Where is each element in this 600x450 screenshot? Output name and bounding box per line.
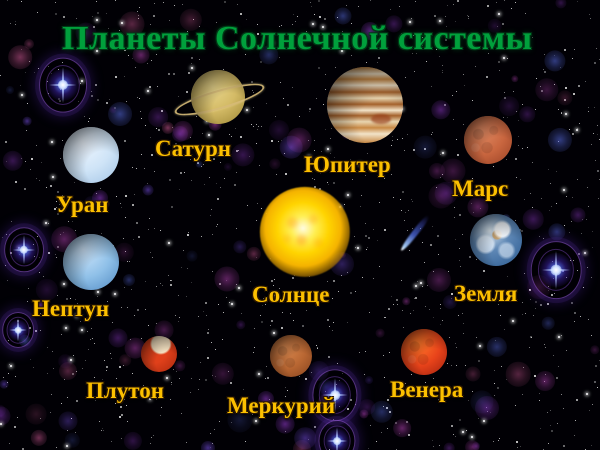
star-core — [551, 265, 562, 276]
star-dot — [11, 221, 12, 222]
star-dot — [539, 236, 540, 237]
star-dot — [569, 129, 570, 130]
star-dot — [129, 261, 130, 262]
star-dot — [518, 145, 519, 146]
star-dot — [102, 379, 103, 380]
star-dot — [153, 435, 154, 436]
star-dot — [297, 16, 298, 17]
star-dot — [592, 247, 593, 248]
star-dot — [457, 0, 459, 2]
star-dot — [290, 313, 291, 314]
star-ring-inner — [319, 376, 351, 414]
star-dot — [241, 313, 242, 314]
star-bright — [462, 431, 464, 433]
star-dot — [269, 399, 270, 400]
star-dot — [220, 162, 221, 163]
star-dot — [178, 321, 179, 322]
nebula-glow — [26, 404, 47, 425]
star-dot — [467, 15, 468, 16]
star-dot — [123, 365, 124, 366]
star-dot — [63, 16, 65, 18]
star-dot — [293, 320, 294, 321]
star-dot — [522, 104, 523, 105]
star-dot — [206, 315, 207, 316]
blue-star-left-low-icon — [7, 319, 29, 341]
star-dot — [217, 224, 218, 225]
star-dot — [317, 347, 318, 348]
star-dot — [15, 24, 16, 25]
star-dot — [533, 315, 534, 316]
star-dot — [62, 313, 63, 314]
nebula-glow — [472, 442, 480, 450]
star-dot — [577, 1, 578, 2]
star-dot — [391, 296, 392, 297]
star-bright — [565, 113, 567, 115]
star-dot — [90, 339, 91, 340]
star-dot — [497, 387, 499, 389]
star-dot — [283, 98, 284, 99]
star-dot — [54, 208, 56, 210]
star-dot — [72, 373, 74, 375]
star-dot — [523, 367, 524, 368]
star-dot — [121, 207, 122, 208]
star-dot — [111, 358, 112, 359]
star-dot — [84, 116, 85, 117]
planet-pluto[interactable] — [141, 336, 177, 372]
planet-jupiter[interactable] — [327, 67, 403, 143]
star-dot — [186, 296, 187, 297]
star-dot — [109, 99, 110, 100]
star-dot — [478, 360, 480, 362]
star-dot — [240, 136, 242, 138]
star-dot — [138, 15, 139, 16]
star-dot — [544, 381, 545, 382]
star-dot — [149, 218, 150, 219]
star-dot — [102, 428, 103, 429]
star-dot — [597, 170, 599, 172]
star-dot — [486, 407, 487, 408]
star-dot — [393, 304, 394, 305]
star-dot — [134, 315, 135, 316]
nebula-glow — [302, 244, 308, 250]
star-dot — [472, 100, 473, 101]
nebula-glow — [309, 361, 329, 381]
nebula-glow — [441, 159, 466, 184]
star-dot — [455, 343, 456, 344]
star-dot — [424, 148, 426, 150]
star-dot — [569, 232, 570, 233]
star-dot — [506, 159, 507, 160]
star-ring-outer — [2, 312, 34, 348]
nebula-glow — [487, 337, 507, 357]
nebula-glow — [340, 252, 346, 258]
star-dot — [366, 62, 367, 63]
star-dot — [287, 104, 289, 106]
star-dot — [29, 61, 30, 62]
star-dot — [499, 70, 500, 71]
star-dot — [61, 334, 62, 335]
nebula-glow — [276, 415, 295, 434]
planet-earth[interactable] — [470, 214, 522, 266]
planet-neptune[interactable] — [63, 234, 119, 290]
star-bright — [21, 94, 23, 96]
star-dot — [306, 156, 307, 157]
star-dot — [591, 335, 592, 336]
nebula-glow — [318, 394, 334, 410]
star-dot — [369, 312, 370, 313]
planet-uranus[interactable] — [63, 127, 119, 183]
star-dot — [208, 329, 209, 330]
star-dot — [333, 182, 335, 184]
star-dot — [37, 12, 38, 13]
star-bright — [359, 163, 361, 165]
star-dot — [72, 221, 73, 222]
star-dot — [490, 412, 491, 413]
star-dot — [27, 103, 28, 104]
star-dot — [136, 168, 137, 169]
star-dot — [332, 298, 333, 299]
star-dot — [420, 228, 421, 229]
star-dot — [25, 161, 26, 162]
star-dot — [257, 203, 258, 204]
page-title: Планеты Солнечной системы — [62, 20, 533, 58]
star-dot — [397, 304, 398, 305]
star-dot — [498, 440, 499, 441]
star-dot — [516, 111, 517, 112]
nebula-glow — [19, 335, 31, 347]
star-dot — [377, 240, 378, 241]
nebula-glow — [148, 107, 168, 127]
star-dot — [229, 134, 230, 135]
star-spike-horizontal — [9, 329, 26, 331]
label-earth: Земля — [454, 281, 517, 307]
star-dot — [598, 198, 599, 199]
star-dot — [355, 291, 356, 292]
star-dot — [389, 352, 390, 353]
star-dot — [51, 73, 52, 74]
star-ring-outer — [39, 58, 87, 113]
star-dot — [336, 439, 338, 441]
star-core — [330, 390, 340, 400]
star-dot — [463, 333, 464, 334]
star-dot — [51, 394, 52, 395]
star-dot — [5, 141, 7, 143]
star-dot — [468, 18, 469, 19]
star-dot — [223, 312, 224, 313]
star-dot — [132, 58, 133, 59]
star-dot — [132, 204, 134, 206]
star-dot — [384, 317, 385, 318]
star-dot — [157, 144, 158, 145]
nebula-glow — [269, 120, 289, 140]
star-dot — [101, 430, 102, 431]
star-dot — [115, 0, 116, 1]
nebula-glow — [227, 407, 252, 432]
star-dot — [587, 267, 588, 268]
star-dot — [150, 443, 151, 444]
star-dot — [451, 425, 453, 427]
star-dot — [15, 181, 17, 183]
star-dot — [591, 277, 592, 278]
star-dot — [305, 413, 306, 414]
star-dot — [55, 254, 56, 255]
star-halo — [11, 237, 38, 264]
star-ring-outer — [318, 420, 355, 450]
star-dot — [575, 420, 576, 421]
star-dot — [440, 177, 441, 178]
star-dot — [253, 352, 254, 353]
star-dot — [534, 375, 536, 377]
star-dot — [320, 173, 321, 174]
star-dot — [532, 207, 533, 208]
star-dot — [350, 292, 352, 294]
star-spike-vertical — [23, 235, 25, 264]
star-dot — [76, 400, 78, 402]
nebula-glow — [36, 279, 58, 301]
star-dot — [201, 236, 202, 237]
nebula-glow — [212, 363, 234, 385]
star-dot — [318, 0, 320, 2]
star-dot — [154, 171, 155, 172]
nebula-glow — [544, 50, 565, 71]
star-dot — [325, 89, 326, 90]
label-venus: Венера — [390, 377, 463, 403]
star-dot — [516, 177, 517, 178]
star-dot — [305, 378, 307, 380]
star-dot — [459, 260, 460, 261]
star-dot — [99, 421, 100, 422]
star-dot — [211, 342, 212, 343]
star-dot — [249, 156, 250, 157]
nebula-glow — [59, 412, 78, 431]
star-dot — [515, 2, 516, 3]
star-dot — [312, 178, 313, 179]
star-dot — [6, 386, 7, 387]
star-dot — [595, 160, 596, 161]
star-dot — [359, 352, 360, 353]
star-dot — [175, 143, 177, 145]
star-bright — [498, 13, 500, 15]
star-bright — [420, 282, 422, 284]
star-dot — [525, 13, 526, 14]
star-dot — [24, 188, 26, 190]
star-dot — [261, 321, 263, 323]
star-dot — [134, 395, 135, 396]
star-dot — [597, 387, 598, 388]
star-dot — [327, 319, 329, 321]
star-dot — [161, 407, 162, 408]
star-dot — [464, 85, 465, 86]
star-dot — [451, 293, 453, 295]
solar-system-slide: Планеты Солнечной системы СатурнЮпитерМа… — [0, 0, 600, 450]
star-dot — [539, 400, 540, 401]
comet-icon — [399, 214, 431, 252]
star-dot — [285, 173, 287, 175]
star-dot — [442, 65, 443, 66]
star-dot — [135, 67, 136, 68]
star-dot — [38, 68, 39, 69]
star-dot — [554, 55, 555, 56]
star-dot — [39, 272, 40, 273]
nebula-glow — [231, 143, 254, 166]
star-dot — [61, 403, 62, 404]
star-dot — [154, 3, 155, 4]
star-dot — [139, 7, 140, 8]
star-dot — [96, 193, 97, 194]
star-dot — [316, 98, 317, 99]
star-dot — [73, 355, 74, 356]
star-dot — [148, 229, 149, 230]
star-dot — [588, 107, 589, 108]
star-dot — [170, 280, 171, 281]
star-dot — [57, 213, 59, 215]
star-dot — [123, 238, 124, 239]
star-dot — [571, 302, 573, 304]
terminator-shadow — [470, 214, 522, 266]
star-dot — [328, 356, 330, 358]
star-dot — [581, 233, 582, 234]
star-dot — [457, 154, 459, 156]
star-bright — [347, 194, 349, 196]
star-dot — [447, 5, 448, 6]
star-dot — [34, 72, 35, 73]
star-dot — [48, 66, 49, 67]
star-bright — [258, 373, 260, 375]
star-dot — [314, 186, 316, 188]
star-core — [20, 246, 28, 254]
star-dot — [487, 5, 489, 7]
star-dot — [507, 117, 508, 118]
label-mars: Марс — [452, 176, 508, 202]
star-dot — [577, 179, 578, 180]
star-dot — [156, 323, 157, 324]
star-dot — [407, 134, 408, 135]
nebula-glow — [123, 274, 135, 286]
nebula-glow — [301, 206, 320, 225]
star-dot — [270, 325, 271, 326]
star-bright — [255, 420, 257, 422]
star-dot — [111, 441, 112, 442]
star-dot — [432, 132, 433, 133]
star-dot — [145, 281, 146, 282]
star-dot — [496, 2, 497, 3]
planet-saturn[interactable] — [191, 70, 245, 124]
star-dot — [556, 203, 557, 204]
star-dot — [285, 431, 286, 432]
star-dot — [557, 423, 558, 424]
star-dot — [271, 320, 273, 322]
star-dot — [334, 157, 335, 158]
star-dot — [468, 400, 469, 401]
star-dot — [92, 338, 93, 339]
star-dot — [472, 178, 473, 179]
star-dot — [226, 297, 227, 298]
nebula-glow — [3, 151, 23, 171]
star-dot — [149, 86, 151, 88]
star-dot — [319, 16, 321, 18]
star-dot — [498, 304, 499, 305]
star-dot — [504, 92, 505, 93]
star-dot — [543, 69, 544, 70]
star-dot — [75, 299, 76, 300]
star-dot — [440, 304, 441, 305]
star-dot — [507, 58, 508, 59]
nebula-glow — [109, 329, 128, 348]
star-dot — [281, 140, 282, 141]
star-dot — [119, 416, 121, 418]
star-dot — [551, 206, 552, 207]
sun-granulation — [272, 199, 337, 264]
star-dot — [318, 67, 320, 69]
nebula-glow — [467, 196, 488, 217]
star-dot — [56, 447, 57, 448]
nebula-glow — [570, 207, 585, 222]
star-bright — [325, 246, 327, 248]
nebula-glow — [475, 396, 499, 420]
planet-mercury[interactable] — [270, 335, 312, 377]
star-dot — [531, 337, 532, 338]
star-dot — [205, 379, 207, 381]
star-dot — [540, 304, 542, 306]
star-dot — [529, 289, 531, 291]
star-dot — [589, 410, 590, 411]
star-dot — [422, 286, 423, 287]
star-dot — [594, 62, 596, 64]
star-dot — [483, 287, 484, 288]
star-dot — [513, 91, 514, 92]
star-dot — [7, 0, 8, 1]
star-dot — [507, 276, 508, 277]
star-dot — [115, 76, 117, 78]
star-dot — [77, 303, 78, 304]
star-dot — [29, 327, 31, 329]
star-dot — [172, 127, 173, 128]
star-dot — [336, 384, 337, 385]
star-dot — [75, 432, 76, 433]
star-dot — [588, 111, 589, 112]
star-dot — [571, 221, 572, 222]
star-dot — [399, 433, 400, 434]
star-dot — [481, 290, 482, 291]
star-dot — [404, 220, 405, 221]
star-dot — [309, 276, 310, 277]
star-dot — [593, 133, 594, 134]
star-dot — [543, 238, 544, 239]
star-dot — [163, 2, 164, 3]
star-dot — [583, 287, 584, 288]
star-dot — [187, 347, 188, 348]
star-dot — [595, 365, 597, 367]
star-dot — [429, 309, 430, 310]
star-dot — [430, 244, 432, 246]
planet-venus[interactable] — [401, 329, 447, 375]
star-bright — [316, 248, 318, 250]
star-dot — [576, 399, 578, 401]
star-dot — [540, 86, 541, 87]
star-dot — [10, 252, 12, 254]
nebula-glow — [365, 376, 373, 384]
star-dot — [494, 395, 495, 396]
star-ring-inner — [10, 233, 39, 266]
star-bright — [51, 141, 53, 143]
star-dot — [116, 378, 117, 379]
star-dot — [95, 400, 96, 401]
star-dot — [207, 357, 209, 359]
star-dot — [161, 110, 163, 112]
planet-mars[interactable] — [464, 116, 512, 164]
star-dot — [355, 247, 356, 248]
planet-sun[interactable] — [260, 187, 350, 277]
